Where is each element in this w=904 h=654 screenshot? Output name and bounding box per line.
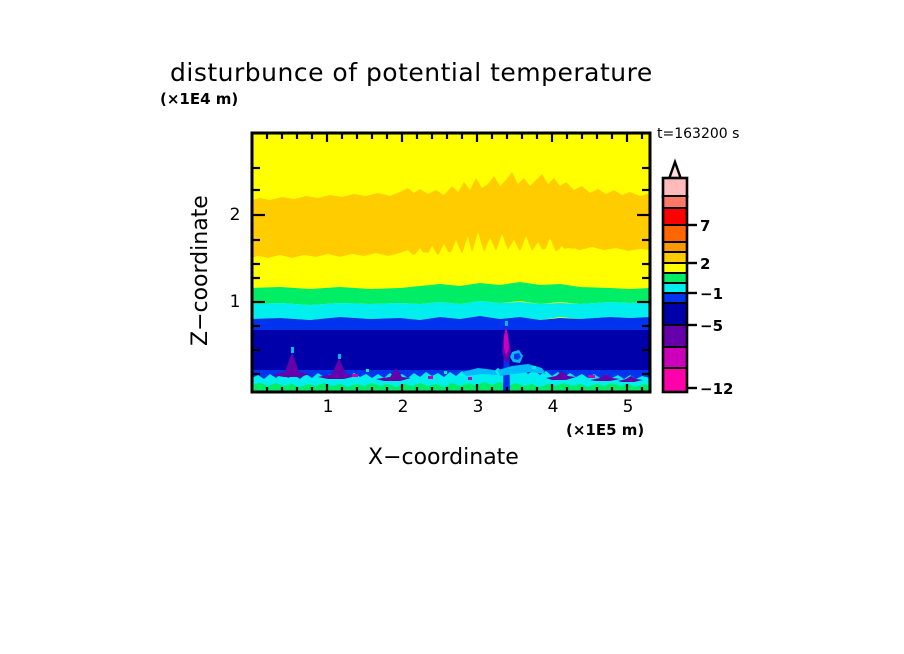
colorbar-band-purple	[663, 325, 687, 347]
x-unit-label: (×1E5 m)	[566, 421, 644, 439]
plume-speck	[588, 375, 595, 378]
page-title: disturbunce of potential temperature	[170, 58, 653, 87]
colorbar-band-salmon	[663, 196, 687, 208]
contour-plot-figure	[0, 0, 904, 654]
y-axis-title: Z−coordinate	[188, 324, 213, 346]
colorbar-tick-label: 2	[700, 255, 710, 273]
convective-plume-tip	[505, 321, 508, 326]
x-axis-title: X−coordinate	[368, 445, 519, 470]
colorbar-band-orange	[663, 225, 687, 242]
plume-speck	[468, 377, 472, 380]
z-unit-label: (×1E4 m)	[160, 90, 238, 108]
colorbar-tick-label: 7	[700, 217, 710, 235]
plume-speck	[352, 374, 358, 377]
timestamp-annotation: t=163200 s	[657, 126, 739, 142]
x-tick-label: 3	[468, 397, 488, 417]
colorbar-band-second-lowest	[663, 347, 687, 368]
interface-speck	[532, 366, 536, 369]
x-tick-label: 4	[543, 397, 563, 417]
y-tick-label: 2	[225, 205, 245, 225]
plume-cap	[291, 347, 294, 353]
x-tick-label: 1	[318, 397, 338, 417]
colorbar-band-gold	[663, 252, 687, 263]
x-tick-label: 2	[393, 397, 413, 417]
plot-interior	[252, 133, 650, 392]
colorbar-band-lowest	[663, 368, 687, 392]
interface-speck	[444, 371, 447, 374]
colorbar-tick-label: −12	[700, 380, 733, 398]
y-tick-label: 1	[225, 292, 245, 312]
plume-cap	[338, 354, 341, 359]
colorbar-band-cyan	[663, 283, 687, 293]
colorbar-band-blue	[663, 293, 687, 303]
x-tick-label: 5	[618, 397, 638, 417]
colorbar-band-green	[663, 273, 687, 283]
colorbar-band-navy	[663, 303, 687, 325]
colorbar-band-pink	[663, 178, 687, 196]
plume-speck	[428, 376, 433, 379]
colorbar-tick-label: −5	[700, 317, 723, 335]
colorbar-band-red	[663, 208, 687, 225]
colorbar-ticks	[688, 225, 697, 388]
interface-speck	[366, 369, 369, 372]
colorbar-band-yellow	[663, 263, 687, 273]
colorbar-tick-label: −1	[700, 285, 723, 303]
colorbar-band-amber	[663, 242, 687, 252]
